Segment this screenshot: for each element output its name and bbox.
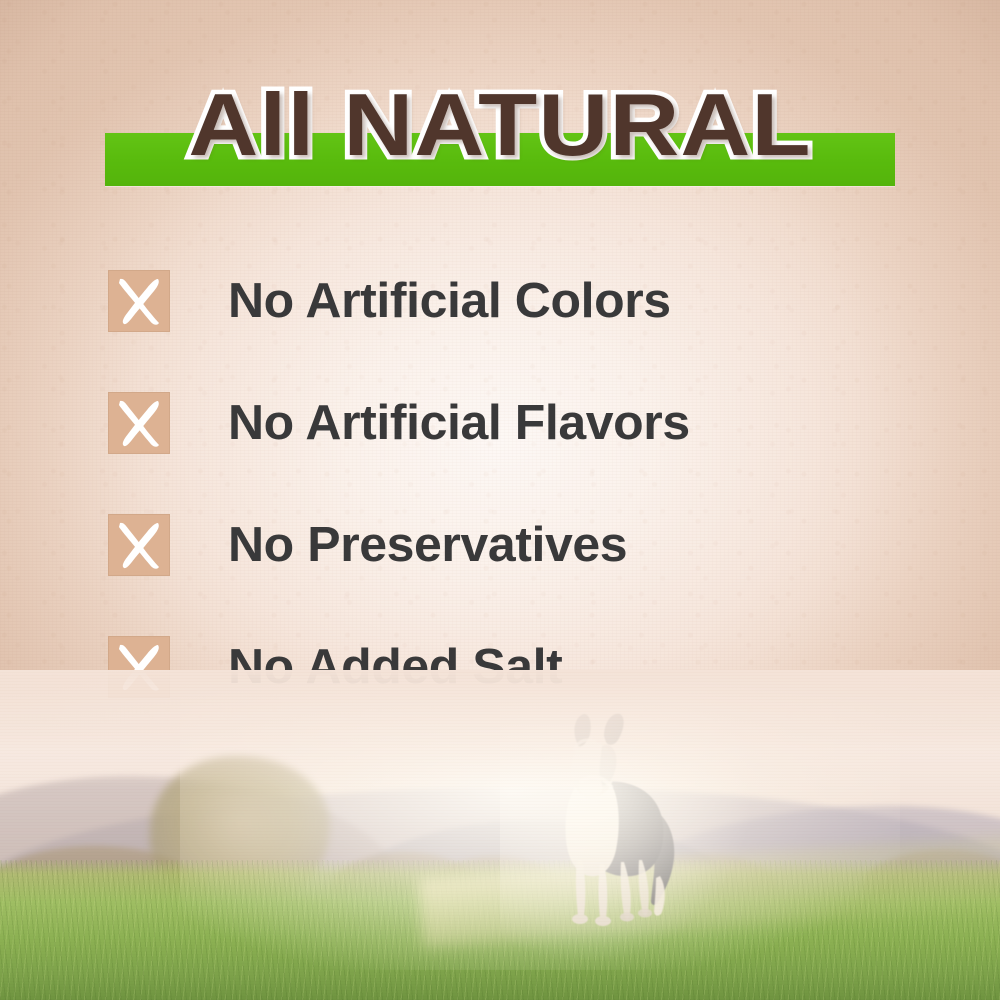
landscape-photo <box>0 670 1000 1000</box>
header: All NATURAL <box>0 0 1000 210</box>
list-item-label: No Artificial Flavors <box>228 397 690 449</box>
all-natural-claims-panel: All NATURAL No Artificial Colors No Arti… <box>0 0 1000 1000</box>
list-item-label: No Artificial Colors <box>228 275 671 327</box>
list-item: No Artificial Colors <box>0 240 1000 362</box>
list-item-label: No Preservatives <box>228 519 627 571</box>
list-item: No Artificial Flavors <box>0 362 1000 484</box>
page-title: All NATURAL <box>0 78 1000 172</box>
x-mark-icon <box>108 514 170 576</box>
list-item: No Preservatives <box>0 484 1000 606</box>
x-mark-icon <box>108 392 170 454</box>
claims-list: No Artificial Colors No Artificial Flavo… <box>0 240 1000 728</box>
x-mark-icon <box>108 270 170 332</box>
photo-grain <box>0 670 1000 1000</box>
